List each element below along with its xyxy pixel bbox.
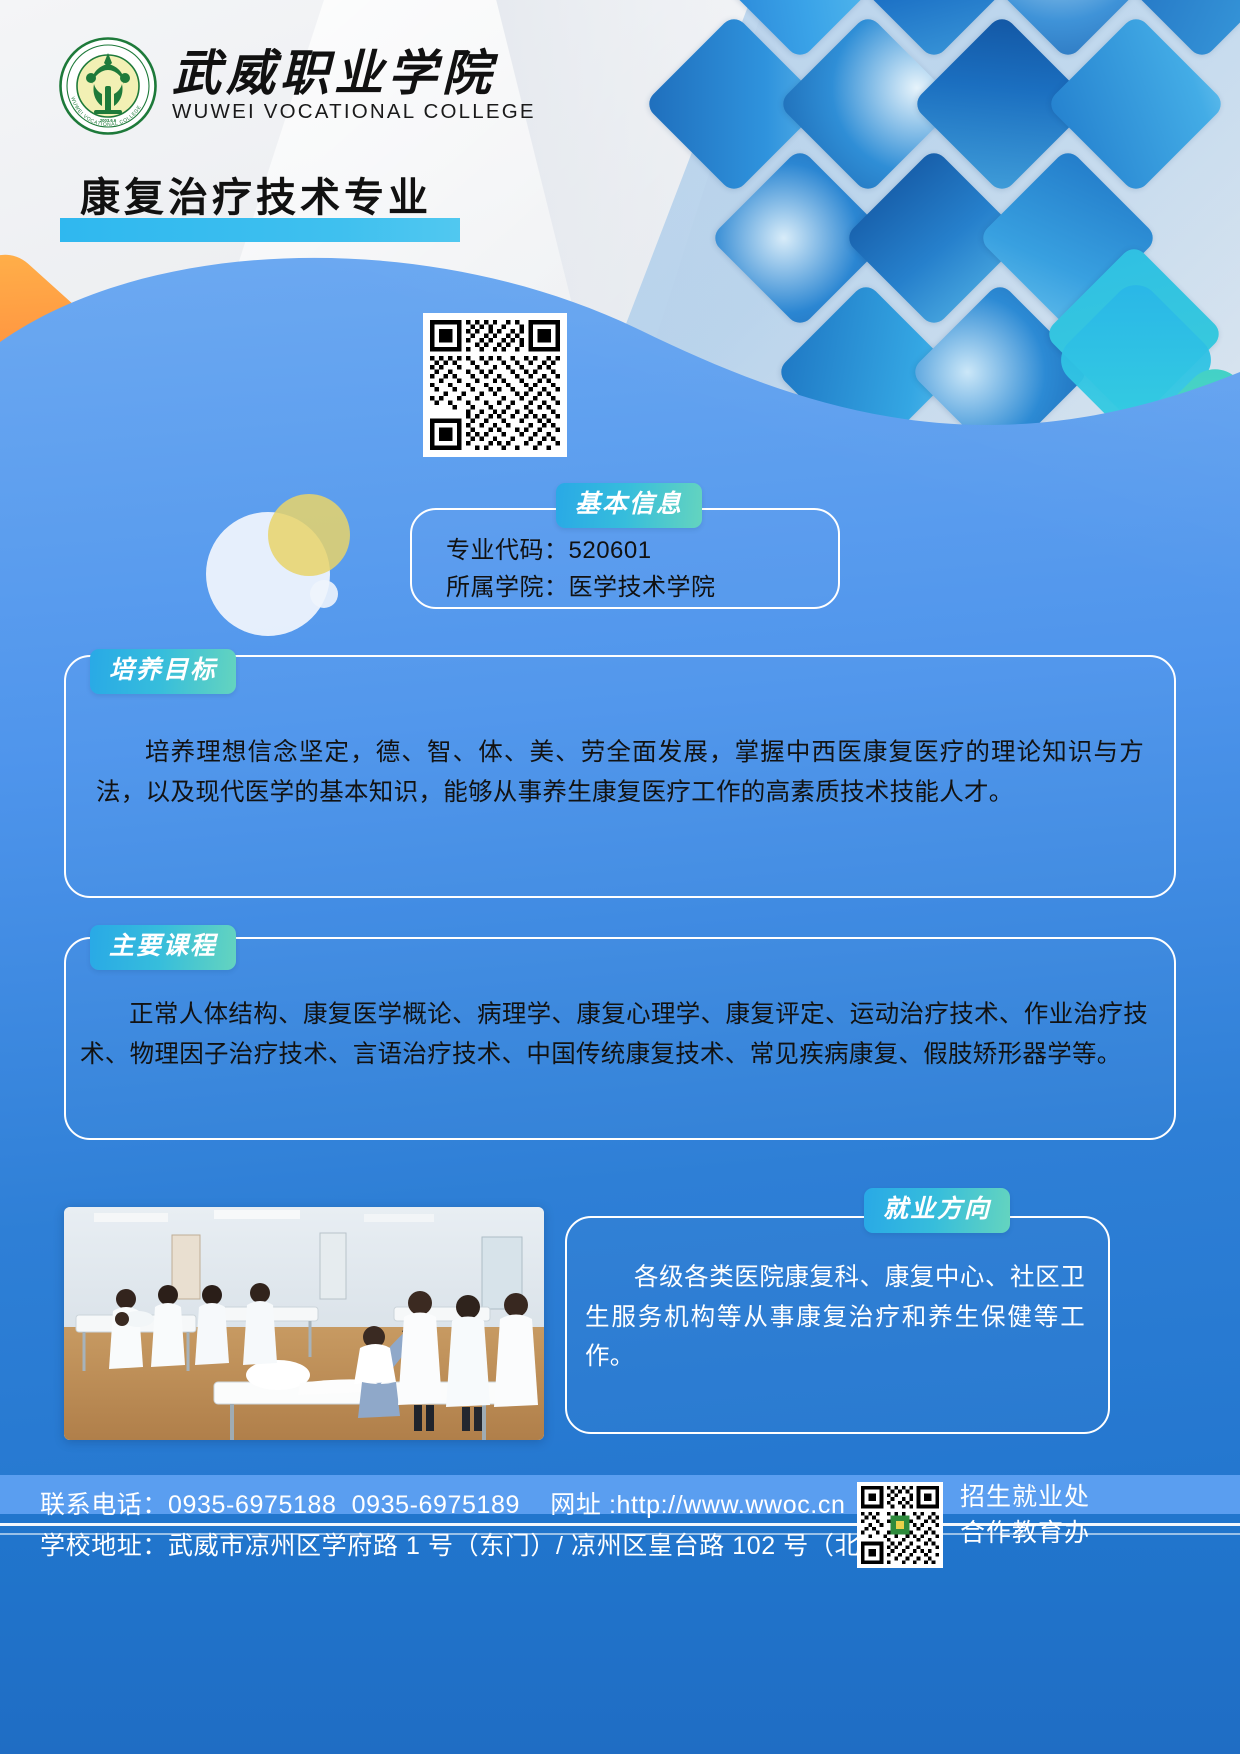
logo-name-en: WUWEI VOCATIONAL COLLEGE bbox=[172, 100, 536, 124]
page-title-text: 康复治疗技术专业 bbox=[80, 178, 432, 218]
website-url[interactable]: http://www.wwoc.cn bbox=[617, 1491, 846, 1519]
basic-info-row: 专业代码：520601 bbox=[446, 530, 652, 565]
phone-label: 联系电话： bbox=[40, 1491, 168, 1519]
major-code-value: 520601 bbox=[569, 537, 652, 564]
badge-main-courses: 主要课程 bbox=[90, 925, 236, 970]
badge-training-goal: 培养目标 bbox=[90, 649, 236, 694]
website-label: 网址 : bbox=[550, 1491, 616, 1519]
footer-address-line: 学校地址：武威市凉州区学府路 1 号（东门）/ 凉州区皇台路 102 号（北门） bbox=[40, 1526, 911, 1562]
decor-circle-small bbox=[310, 580, 338, 608]
phone-1[interactable]: 0935-6975188 bbox=[168, 1491, 336, 1519]
department-label: 所属学院： bbox=[446, 574, 569, 601]
decor-circle-yellow bbox=[268, 494, 350, 576]
badge-employment: 就业方向 bbox=[864, 1188, 1010, 1233]
basic-info-row: 所属学院：医学技术学院 bbox=[446, 567, 716, 602]
logo-name-cn: 武威职业学院 bbox=[172, 49, 536, 98]
address-label: 学校地址： bbox=[40, 1532, 168, 1560]
poster-root: 2003.6.6 WUWEI VOCATIONAL COLLEGE 武威职业学院… bbox=[0, 0, 1240, 1754]
college-crest-tree-icon: 2003.6.6 WUWEI VOCATIONAL COLLEGE bbox=[58, 36, 158, 136]
qr-code-icon[interactable] bbox=[857, 1482, 943, 1568]
title-accent-bar bbox=[60, 218, 460, 242]
office-line-2: 合作教育办 bbox=[960, 1516, 1090, 1552]
main-courses-text: 正常人体结构、康复医学概论、病理学、康复心理学、康复评定、运动治疗技术、作业治疗… bbox=[80, 995, 1148, 1074]
rehabilitation-practice-classroom-photo bbox=[64, 1207, 544, 1440]
address-value: 武威市凉州区学府路 1 号（东门）/ 凉州区皇台路 102 号（北门） bbox=[168, 1532, 911, 1560]
office-line-1: 招生就业处 bbox=[960, 1480, 1090, 1516]
training-goal-text: 培养理想信念坚定，德、智、体、美、劳全面发展，掌握中西医康复医疗的理论知识与方法… bbox=[96, 733, 1144, 812]
qr-code-icon[interactable] bbox=[423, 313, 567, 457]
footer-phone-line: 联系电话：0935-6975188 0935-6975189 网址 :http:… bbox=[40, 1485, 845, 1521]
employment-text: 各级各类医院康复科、康复中心、社区卫生服务机构等从事康复治疗和养生保健等工作。 bbox=[585, 1258, 1085, 1377]
badge-basic-info: 基本信息 bbox=[556, 483, 702, 528]
major-code-label: 专业代码： bbox=[446, 537, 569, 564]
page-title: 康复治疗技术专业 bbox=[80, 178, 432, 218]
phone-2[interactable]: 0935-6975189 bbox=[352, 1491, 520, 1519]
college-logo: 2003.6.6 WUWEI VOCATIONAL COLLEGE 武威职业学院… bbox=[58, 36, 536, 136]
footer-office-block: 招生就业处 合作教育办 bbox=[960, 1480, 1090, 1551]
department-value: 医学技术学院 bbox=[569, 574, 716, 601]
